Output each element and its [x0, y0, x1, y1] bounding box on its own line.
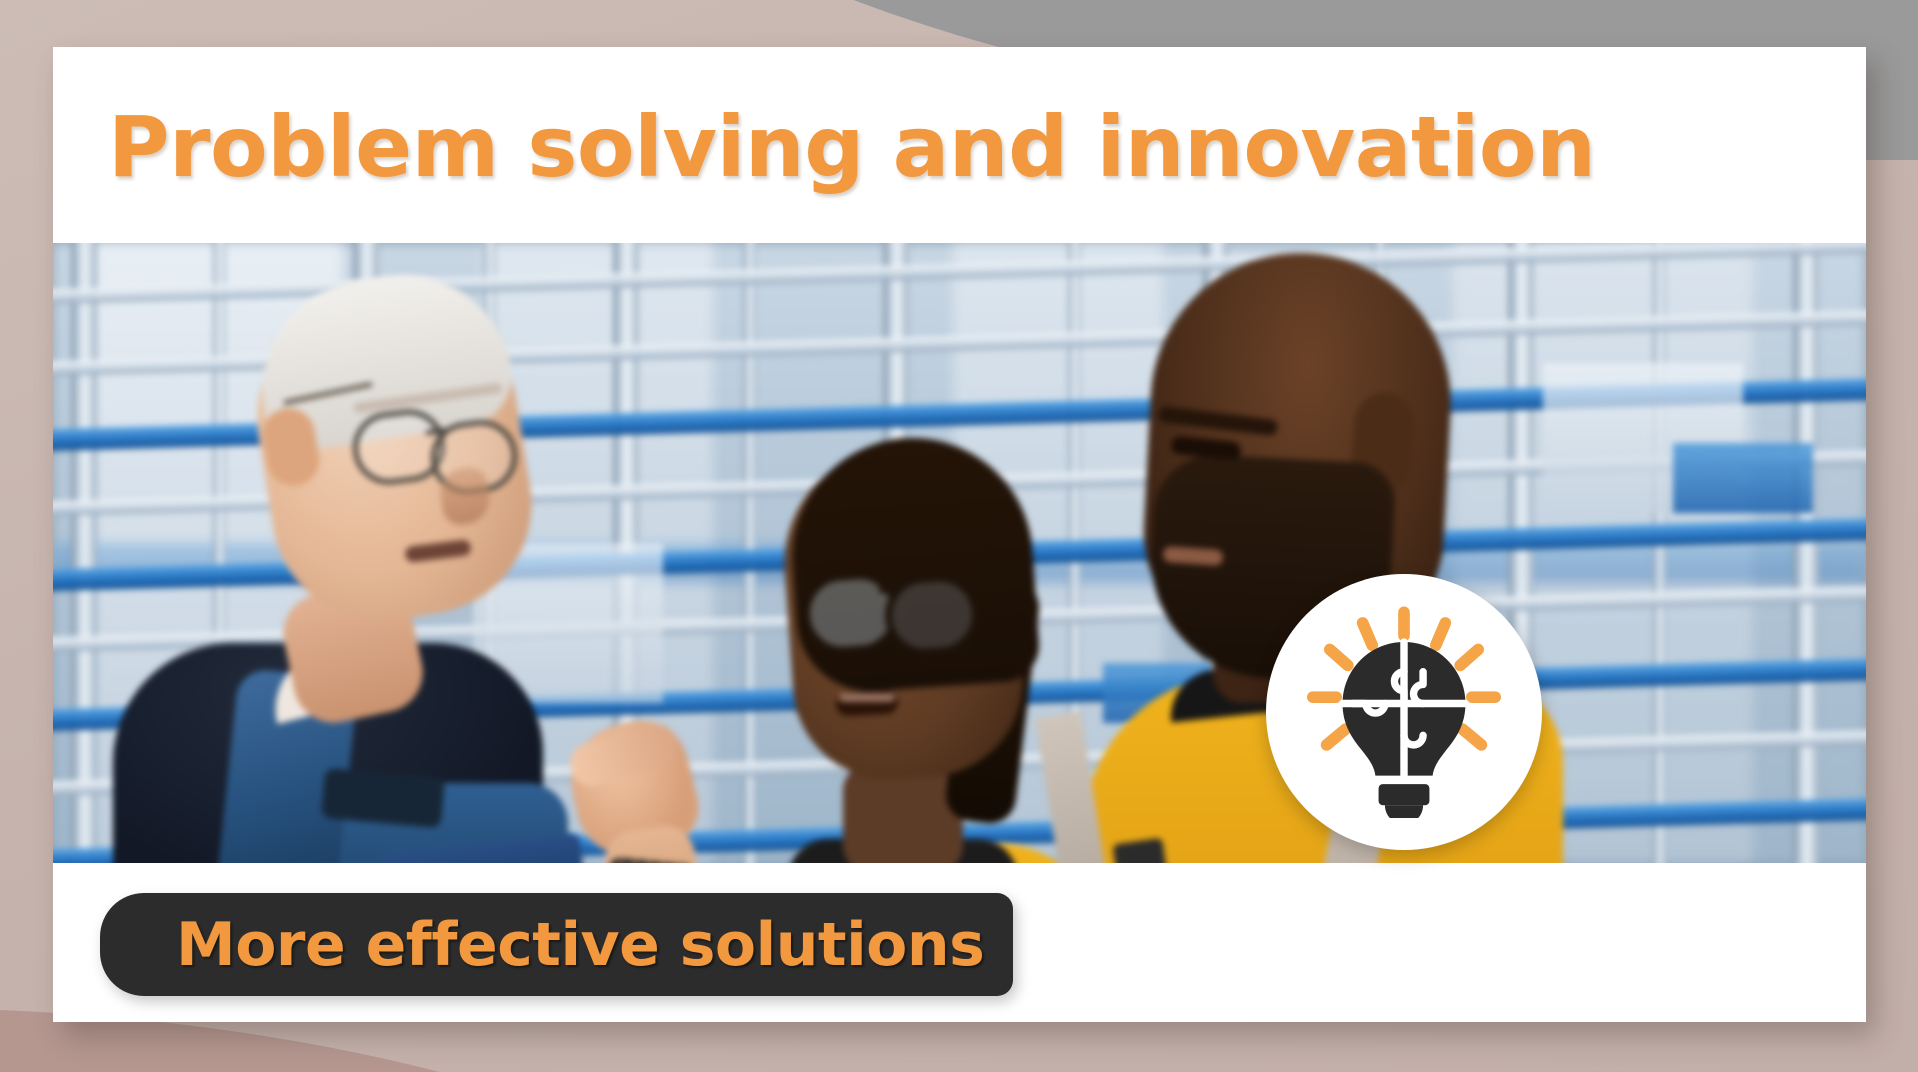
content-card: Problem solving and innovation [53, 47, 1866, 1022]
caption-banner: More effective solutions [100, 893, 1013, 996]
caption-text: More effective solutions [176, 915, 984, 975]
hero-photo [53, 243, 1866, 863]
logo-badge [1266, 574, 1542, 850]
page-title: Problem solving and innovation [108, 95, 1808, 205]
lightbulb-puzzle-icon [1298, 606, 1510, 818]
slide-canvas: Problem solving and innovation [0, 0, 1918, 1072]
